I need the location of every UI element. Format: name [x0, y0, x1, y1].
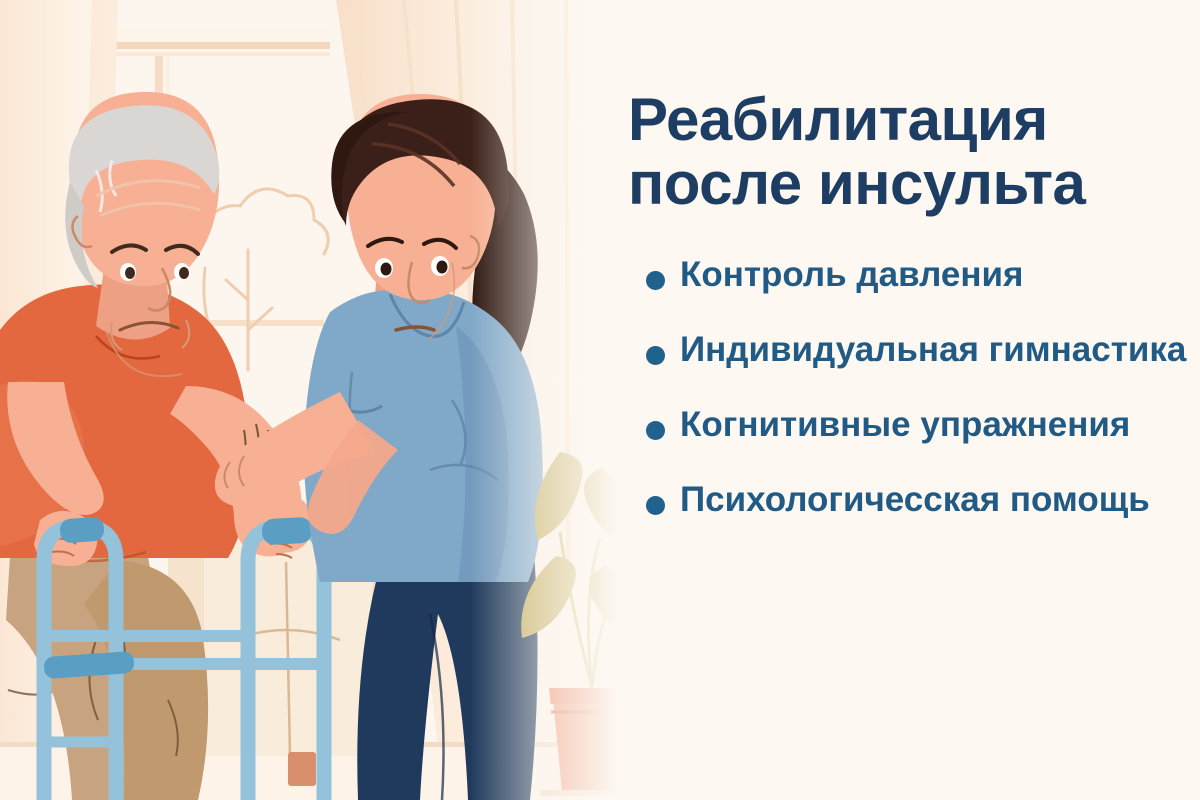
list-item: Индивидуальная гимнастика: [628, 330, 1194, 371]
illustration-panel: [0, 0, 620, 800]
scene-illustration: [0, 0, 620, 800]
list-item-label: Когнитивные упражнения: [680, 405, 1194, 446]
bullet-dot-icon: [646, 421, 665, 440]
text-panel: Реабилитация после инсульта Контроль дав…: [620, 0, 1200, 800]
list-item-label: Индивидуальная гимнастика: [680, 330, 1194, 371]
bullet-dot-icon: [646, 496, 665, 515]
poster-root: Реабилитация после инсульта Контроль дав…: [0, 0, 1200, 800]
bullet-dot-icon: [646, 346, 665, 365]
bullet-dot-icon: [646, 271, 665, 290]
man-eye-right: [179, 267, 189, 279]
nurse-eye-right: [437, 261, 448, 274]
benefits-list: Контроль давления Индивидуальная гимнаст…: [628, 255, 1194, 521]
list-item-label: Психологичесская помощь: [680, 480, 1194, 521]
list-item: Психологичесская помощь: [628, 480, 1194, 521]
page-title: Реабилитация после инсульта: [628, 88, 1194, 215]
man-eye-left: [125, 267, 135, 279]
list-item: Контроль давления: [628, 255, 1194, 296]
list-item-label: Контроль давления: [680, 255, 1194, 296]
list-item: Когнитивные упражнения: [628, 405, 1194, 446]
nurse-eye-left: [381, 263, 392, 276]
